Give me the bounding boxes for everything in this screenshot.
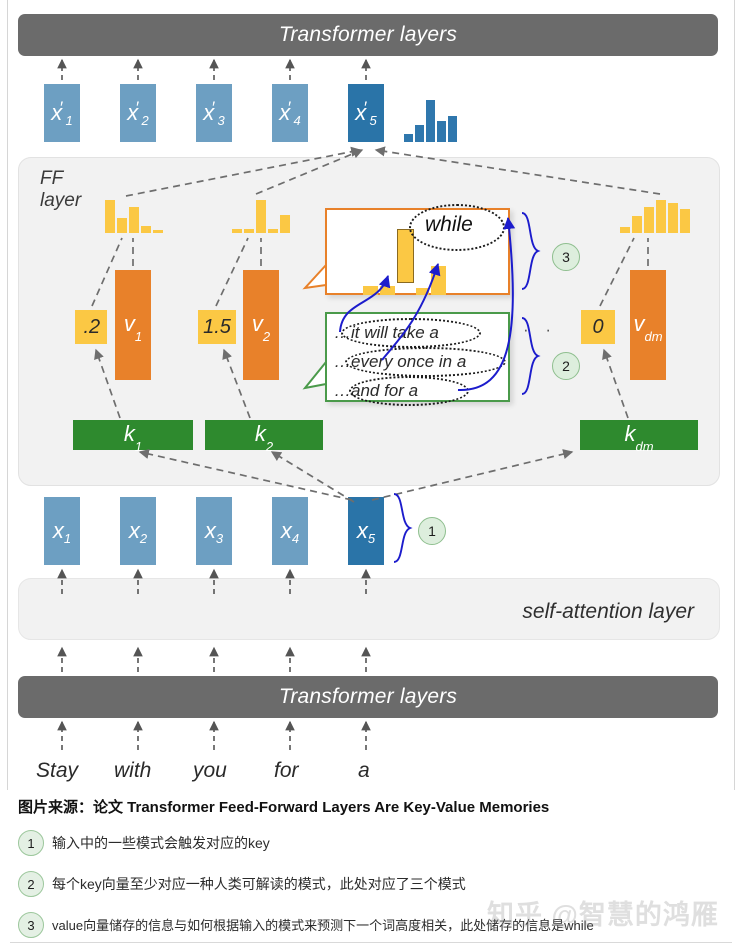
caption-title: 图片来源：论文 Transformer Feed-Forward Layers … <box>18 796 549 817</box>
value-vector-v1: v1 <box>115 270 151 380</box>
left-rule <box>7 0 8 790</box>
coefficient-2: 1.5 <box>198 310 236 344</box>
input-token-x5-label: x5 <box>357 518 375 544</box>
key-vector-k2: k2 <box>205 420 323 450</box>
input-word-2: you <box>193 759 227 783</box>
caption-text-1: 输入中的一些模式会触发对应的key <box>52 833 270 853</box>
self-attention-label: self-attention layer <box>522 600 694 624</box>
watermark: 知乎 @智慧的鸿雁 <box>487 893 719 932</box>
top-transformer-label: Transformer layers <box>279 23 457 47</box>
input-word-4: a <box>358 759 370 783</box>
caption-badge-1: 1 <box>18 830 44 856</box>
top-transformer-bar: Transformer layers <box>18 14 718 56</box>
output-token-x5-label: x′5 <box>355 100 376 126</box>
bottom-transformer-label: Transformer layers <box>279 685 457 709</box>
key-vector-kdm-label: kdm <box>624 421 653 449</box>
output-distribution-histogram <box>404 100 457 142</box>
bottom-transformer-bar: Transformer layers <box>18 676 718 718</box>
input-word-0: Stay <box>36 759 78 783</box>
output-token-x2-label: x′2 <box>127 100 148 126</box>
while-ellipse <box>409 204 505 251</box>
coefficient-dm: 0 <box>581 310 615 344</box>
value-vector-v2-label: v2 <box>252 311 270 339</box>
right-rule <box>734 0 735 790</box>
key-vector-kdm: kdm <box>580 420 698 450</box>
input-token-x3-label: x3 <box>205 518 223 544</box>
value-vector-vdm: vdm <box>630 270 666 380</box>
phrase-ellipse-2 <box>345 347 506 377</box>
output-token-x3: x′3 <box>196 84 232 142</box>
input-token-x2-label: x2 <box>129 518 147 544</box>
input-token-x4-label: x4 <box>281 518 299 544</box>
input-token-x1: x1 <box>44 497 80 565</box>
input-word-3: for <box>274 759 299 783</box>
output-token-x3-label: x′3 <box>203 100 224 126</box>
badge-1: 1 <box>418 517 446 545</box>
input-token-x3: x3 <box>196 497 232 565</box>
value-distribution-histogram-vdm <box>620 200 690 233</box>
output-token-x5: x′5 <box>348 84 384 142</box>
caption-badge-3: 3 <box>18 912 44 938</box>
diagram-canvas: Transformer layers x′1 x′2 x′3 x′4 x′5 <box>0 0 742 947</box>
value-vector-vdm-label: vdm <box>633 311 662 339</box>
caption-text-2: 每个key向量至少对应一种人类可解读的模式，此处对应了三个模式 <box>52 874 466 894</box>
input-token-x5: x5 <box>348 497 384 565</box>
key-vector-k2-label: k2 <box>255 421 273 449</box>
badge-3: 3 <box>552 243 580 271</box>
key-vector-k1: k1 <box>73 420 193 450</box>
phrase-ellipse-3 <box>349 376 469 406</box>
ellipsis-dots: · · <box>523 320 557 340</box>
caption-bottom-rule <box>10 942 732 943</box>
output-token-x1: x′1 <box>44 84 80 142</box>
output-token-x4: x′4 <box>272 84 308 142</box>
value-distribution-histogram-v1 <box>105 200 163 233</box>
coefficient-1: .2 <box>75 310 107 344</box>
callout-distribution-histogram <box>363 255 446 295</box>
input-token-x2: x2 <box>120 497 156 565</box>
output-token-x4-label: x′4 <box>279 100 300 126</box>
value-distribution-histogram-v2 <box>232 200 290 233</box>
input-token-x1-label: x1 <box>53 518 71 544</box>
output-token-x2: x′2 <box>120 84 156 142</box>
input-word-1: with <box>114 759 151 783</box>
phrase-ellipse-1 <box>341 318 481 348</box>
output-token-x1-label: x′1 <box>51 100 72 126</box>
value-vector-v2: v2 <box>243 270 279 380</box>
input-token-x4: x4 <box>272 497 308 565</box>
badge-2: 2 <box>552 352 580 380</box>
value-vector-v1-label: v1 <box>124 311 142 339</box>
caption-badge-2: 2 <box>18 871 44 897</box>
key-vector-k1-label: k1 <box>124 421 142 449</box>
